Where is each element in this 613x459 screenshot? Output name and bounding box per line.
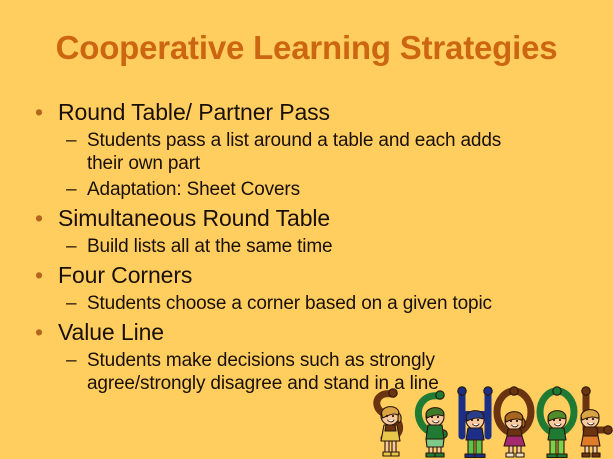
bullet-dot-icon: • [35,98,43,127]
bullet-level2-label-wrap: their own part [87,152,613,175]
dash-icon: – [66,235,76,258]
bullet-level2: – Adaptation: Sheet Covers [0,178,613,201]
bullet-level2-label: Build lists all at the same time [87,235,613,258]
bullet-level2-label: Adaptation: Sheet Covers [87,178,613,201]
clipart-figure-o-2 [540,387,574,458]
bullet-level2-label: Students choose a corner based on a give… [87,292,613,315]
bullet-level1: • Simultaneous Round Table [0,204,613,233]
bullet-level1-label: Simultaneous Round Table [58,205,330,231]
bullet-level1: • Four Corners [0,261,613,290]
bullet-level2-label: Students pass a list around a table and … [87,129,613,152]
clipart-figure-h [458,387,492,458]
presentation-slide: Cooperative Learning Strategies • Round … [0,0,613,459]
dash-icon: – [66,129,76,152]
bullet-level2: – Build lists all at the same time [0,235,613,258]
bullet-level1: • Round Table/ Partner Pass [0,98,613,127]
bullet-level2-label: Students make decisions such as strongly [87,349,613,372]
dash-icon: – [66,349,76,372]
clipart-figure-l [581,387,612,457]
bullet-dot-icon: • [35,318,43,347]
bullet-level2: – Students choose a corner based on a gi… [0,292,613,315]
dash-icon: – [66,178,76,201]
dash-icon: – [66,292,76,315]
page-title: Cooperative Learning Strategies [0,28,613,68]
bullet-level1-label: Four Corners [58,262,192,288]
bullet-dot-icon: • [35,261,43,290]
school-kids-clipart-icon [362,384,613,459]
bullet-level1-label: Value Line [58,319,164,345]
bullet-list: • Round Table/ Partner Pass – Students p… [0,98,613,395]
bullet-level2: – Students pass a list around a table an… [0,129,613,175]
clipart-figure-o-1 [497,387,531,457]
bullet-level1-label: Round Table/ Partner Pass [58,99,330,125]
bullet-dot-icon: • [35,204,43,233]
clipart-figure-c [418,391,447,457]
bullet-level1: • Value Line [0,318,613,347]
clipart-figure-s [377,389,401,456]
